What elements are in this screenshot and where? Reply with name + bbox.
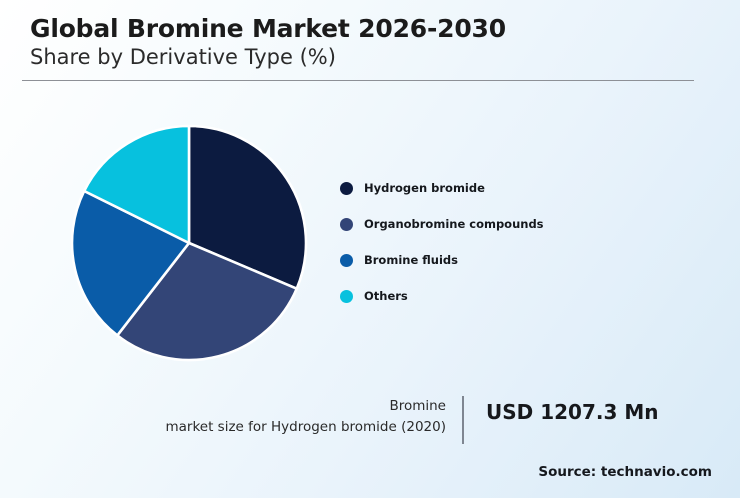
chart-legend: Hydrogen bromideOrganobromine compoundsB… — [340, 170, 670, 314]
page-subtitle: Share by Derivative Type (%) — [30, 45, 690, 70]
legend-item-label: Organobromine compounds — [364, 217, 544, 231]
legend-item[interactable]: Organobromine compounds — [340, 206, 670, 242]
legend-item-label: Others — [364, 289, 408, 303]
source-label: Source: technavio.com — [538, 464, 712, 480]
header-divider — [22, 80, 694, 81]
callout-value: USD 1207.3 Mn — [464, 396, 659, 423]
callout-line-1: Bromine — [110, 396, 446, 417]
legend-item-label: Hydrogen bromide — [364, 181, 485, 195]
legend-swatch-icon — [340, 182, 353, 195]
market-size-callout: Bromine market size for Hydrogen bromide… — [110, 396, 690, 444]
legend-swatch-icon — [340, 290, 353, 303]
chart-canvas: Global Bromine Market 2026-2030 Share by… — [0, 0, 740, 498]
legend-item[interactable]: Bromine fluids — [340, 242, 670, 278]
legend-item[interactable]: Others — [340, 278, 670, 314]
pie-chart-svg — [70, 124, 308, 362]
callout-line-2: market size for Hydrogen bromide (2020) — [110, 417, 446, 438]
pie-chart — [70, 124, 308, 362]
legend-swatch-icon — [340, 218, 353, 231]
page-title: Global Bromine Market 2026-2030 — [30, 14, 690, 44]
callout-description: Bromine market size for Hydrogen bromide… — [110, 396, 462, 438]
chart-header: Global Bromine Market 2026-2030 Share by… — [30, 14, 690, 70]
legend-swatch-icon — [340, 254, 353, 267]
legend-item-label: Bromine fluids — [364, 253, 458, 267]
legend-item[interactable]: Hydrogen bromide — [340, 170, 670, 206]
